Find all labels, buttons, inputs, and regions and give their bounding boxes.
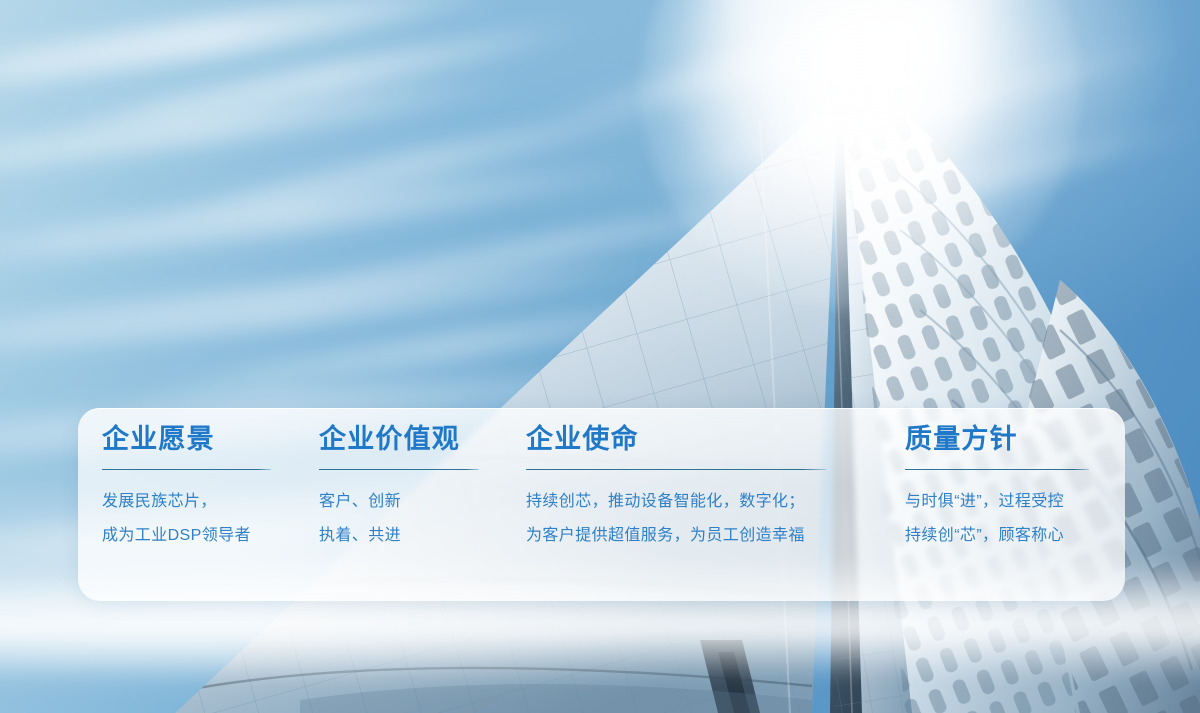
column-divider [102,469,271,470]
column-body-mission: 持续创芯，推动设备智能化，数字化； 为客户提供超值服务，为员工创造幸福 [526,485,880,553]
column-line: 发展民族芯片， [102,485,300,519]
column-line: 持续创“芯”，顾客称心 [905,519,1105,553]
column-divider [319,469,479,470]
column-line: 与时俱“进”，过程受控 [905,485,1105,519]
culture-column-quality-policy: 质量方针 与时俱“进”，过程受控 持续创“芯”，顾客称心 [880,408,1105,553]
skyscraper-illustration [0,0,1200,713]
column-title-quality-policy: 质量方针 [905,425,1105,455]
culture-column-vision: 企业愿景 发展民族芯片， 成为工业DSP领导者 [78,408,300,553]
column-line: 为客户提供超值服务，为员工创造幸福 [526,519,880,553]
column-body-values: 客户、创新 执着、共进 [319,485,504,553]
column-line: 客户、创新 [319,485,504,519]
culture-column-values: 企业价值观 客户、创新 执着、共进 [300,408,504,553]
column-title-values: 企业价值观 [319,425,504,455]
column-body-vision: 发展民族芯片， 成为工业DSP领导者 [102,485,300,553]
corporate-culture-banner: 企业愿景 发展民族芯片， 成为工业DSP领导者 企业价值观 客户、创新 执着、共… [0,0,1200,713]
tower-left-mullions [120,60,880,713]
building-layer [0,0,1200,713]
column-title-vision: 企业愿景 [102,425,300,455]
culture-column-mission: 企业使命 持续创芯，推动设备智能化，数字化； 为客户提供超值服务，为员工创造幸福 [504,408,880,553]
column-line: 持续创芯，推动设备智能化，数字化； [526,485,880,519]
column-line: 成为工业DSP领导者 [102,519,300,553]
column-divider [526,469,826,470]
column-divider [905,469,1089,470]
corporate-culture-card: 企业愿景 发展民族芯片， 成为工业DSP领导者 企业价值观 客户、创新 执着、共… [78,408,1125,601]
column-line: 执着、共进 [319,519,504,553]
column-body-quality-policy: 与时俱“进”，过程受控 持续创“芯”，顾客称心 [905,485,1105,553]
column-title-mission: 企业使命 [526,425,880,455]
